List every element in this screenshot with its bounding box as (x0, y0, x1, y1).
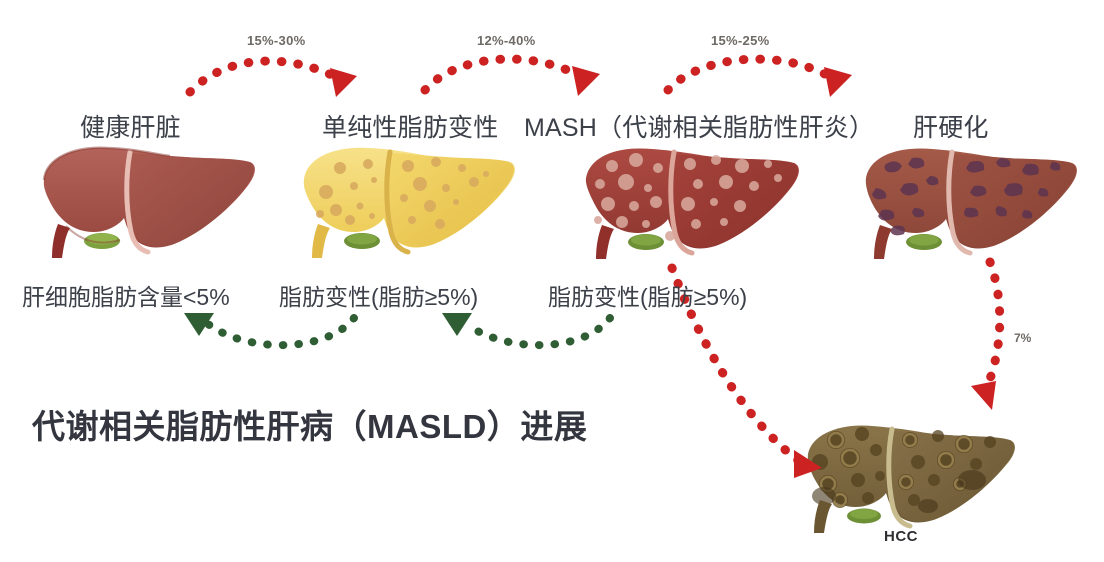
arrow-steatosis-to-healthy (184, 313, 354, 345)
healthy-liver-illustration (36, 140, 266, 270)
arrow-mash-to-cirrhosis (668, 59, 852, 97)
hcc-liver-illustration (800, 418, 1030, 543)
criteria-label-mash: 脂肪变性(脂肪≥5%) (548, 278, 747, 312)
mash-liver-illustration (578, 140, 818, 270)
stage-label-mash: MASH（代谢相关脂肪性肝炎） (524, 108, 874, 144)
arrow-steatosis-to-mash (425, 59, 600, 96)
stage-label-healthy-liver: 健康肝脏 (80, 108, 181, 144)
progression-percent-steatosis-to-mash: 12%-40% (477, 33, 535, 48)
arrow-healthy-to-steatosis (190, 61, 357, 97)
progression-percent-mash-to-cirrhosis: 15%-25% (711, 33, 769, 48)
stage-label-cirrhosis: 肝硬化 (913, 108, 989, 144)
progression-percent-cirrhosis-to-hcc: 7% (1014, 331, 1031, 345)
figure-title: 代谢相关脂肪性肝病（MASLD）进展 (32, 400, 587, 448)
arrow-mash-to-steatosis (442, 313, 610, 345)
progression-percent-healthy-to-steatosis: 15%-30% (247, 33, 305, 48)
arrow-cirrhosis-to-hcc (971, 262, 1000, 410)
criteria-label-simple-steatosis: 脂肪变性(脂肪≥5%) (279, 278, 478, 312)
simple-steatosis-liver-illustration (296, 140, 526, 270)
stage-label-hcc: HCC (884, 528, 918, 545)
stage-label-simple-steatosis: 单纯性脂肪变性 (322, 108, 498, 144)
criteria-label-healthy-liver: 肝细胞脂肪含量<5% (22, 278, 230, 312)
masld-progression-figure: .fwd { fill:none; stroke:#cc2222; stroke… (0, 0, 1104, 562)
cirrhosis-liver-illustration (858, 140, 1093, 270)
